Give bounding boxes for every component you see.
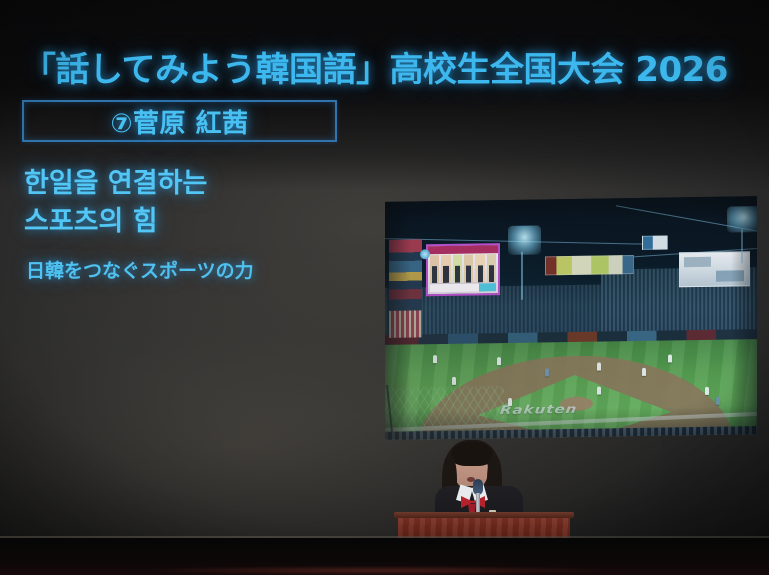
projection-screen: 「話してみよう韓国語」高校生全国大会 2026 ⑦菅原 紅茜 한일을 연결하는 …: [0, 0, 769, 538]
podium-front-panel: [398, 518, 570, 538]
stage-floor-glow: [154, 566, 600, 575]
podium: [394, 512, 574, 538]
screen-vignette: [0, 0, 769, 538]
auditorium-stage-scene: 「話してみよう韓国語」高校生全国大会 2026 ⑦菅原 紅茜 한일을 연결하는 …: [0, 0, 769, 575]
hair-fringe: [451, 442, 493, 466]
